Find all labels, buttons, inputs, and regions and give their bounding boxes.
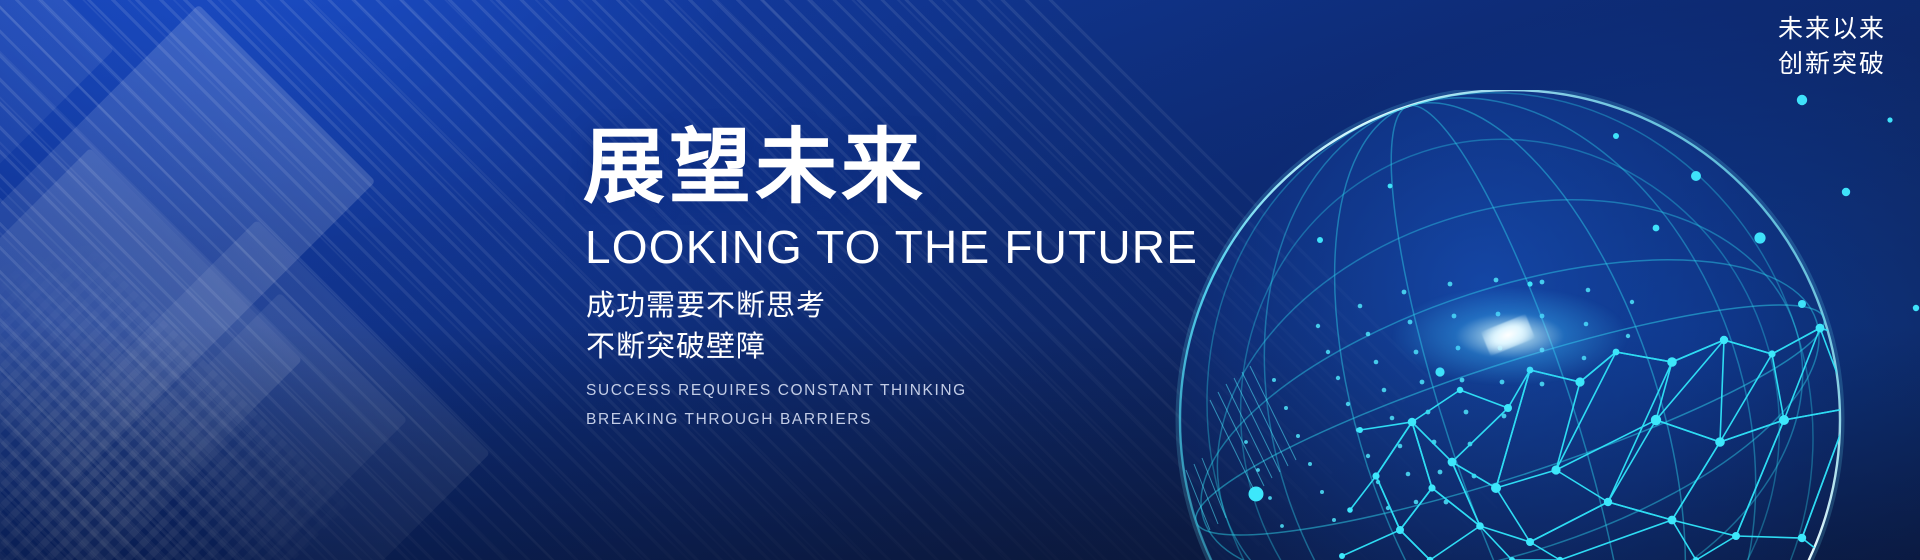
headline-block: 展望未来 LOOKING TO THE FUTURE 成功需要不断思考 不断突破… bbox=[583, 126, 1203, 434]
corner-slogan: 未来以来 创新突破 bbox=[1778, 12, 1886, 81]
banner-root: 未来以来 创新突破 展望未来 LOOKING TO THE FUTURE 成功需… bbox=[0, 0, 1920, 560]
headline-en-title: LOOKING TO THE FUTURE bbox=[585, 222, 1203, 274]
corner-slogan-line-2: 创新突破 bbox=[1778, 47, 1886, 82]
headline-en-sub-line-2: BREAKING THROUGH BARRIERS bbox=[586, 407, 1203, 434]
corner-slogan-line-1: 未来以来 bbox=[1778, 12, 1886, 47]
headline-cn-title: 展望未来 bbox=[583, 126, 1203, 210]
headline-cn-sub-line-1: 成功需要不断思考 bbox=[586, 287, 1203, 326]
headline-en-sub-line-1: SUCCESS REQUIRES CONSTANT THINKING bbox=[586, 378, 1203, 405]
headline-cn-sub-line-2: 不断突破壁障 bbox=[586, 328, 1203, 367]
